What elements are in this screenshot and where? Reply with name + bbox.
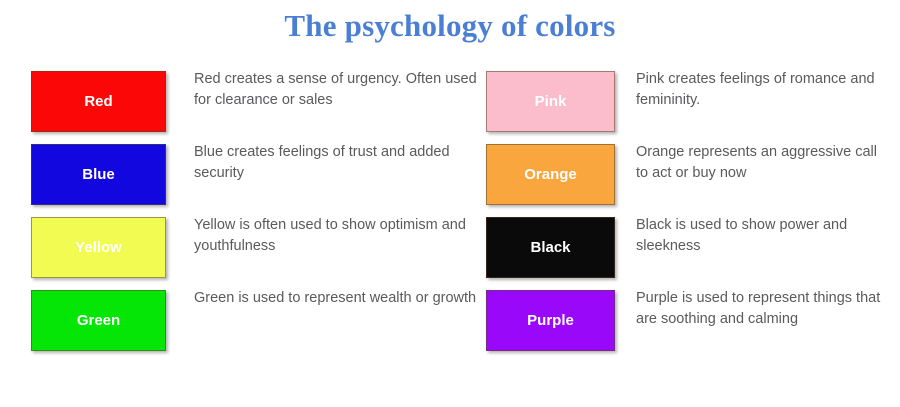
- color-row: Green Green is used to represent wealth …: [31, 290, 480, 351]
- color-row: Pink Pink creates feelings of romance an…: [486, 71, 890, 132]
- color-description: Blue creates feelings of trust and added…: [194, 142, 480, 184]
- color-swatch-label: Yellow: [75, 240, 122, 255]
- color-swatch-label: Orange: [524, 167, 577, 182]
- color-row: Orange Orange represents an aggressive c…: [486, 144, 890, 205]
- slide-canvas: The psychology of colors Red Red creates…: [0, 0, 900, 407]
- color-swatch-label: Blue: [82, 167, 115, 182]
- color-description: Black is used to show power and sleeknes…: [636, 215, 890, 257]
- page-title: The psychology of colors: [0, 8, 900, 44]
- color-swatch-label: Green: [77, 313, 120, 328]
- color-swatch-purple[interactable]: Purple: [486, 290, 615, 351]
- color-swatch-label: Pink: [535, 94, 567, 109]
- color-description: Yellow is often used to show optimism an…: [194, 215, 480, 257]
- color-description: Pink creates feelings of romance and fem…: [636, 69, 890, 111]
- color-description: Orange represents an aggressive call to …: [636, 142, 890, 184]
- color-swatch-label: Purple: [527, 313, 574, 328]
- color-swatch-orange[interactable]: Orange: [486, 144, 615, 205]
- color-row: Red Red creates a sense of urgency. Ofte…: [31, 71, 480, 132]
- color-swatch-label: Red: [84, 94, 112, 109]
- color-swatch-green[interactable]: Green: [31, 290, 166, 351]
- color-row: Blue Blue creates feelings of trust and …: [31, 144, 480, 205]
- color-swatch-blue[interactable]: Blue: [31, 144, 166, 205]
- color-description: Red creates a sense of urgency. Often us…: [194, 69, 480, 111]
- color-swatch-label: Black: [530, 240, 570, 255]
- color-swatch-red[interactable]: Red: [31, 71, 166, 132]
- color-swatch-black[interactable]: Black: [486, 217, 615, 278]
- color-swatch-yellow[interactable]: Yellow: [31, 217, 166, 278]
- color-description: Purple is used to represent things that …: [636, 288, 890, 330]
- color-swatch-pink[interactable]: Pink: [486, 71, 615, 132]
- color-row: Yellow Yellow is often used to show opti…: [31, 217, 480, 278]
- color-description: Green is used to represent wealth or gro…: [194, 288, 480, 309]
- color-row: Black Black is used to show power and sl…: [486, 217, 890, 278]
- color-row: Purple Purple is used to represent thing…: [486, 290, 890, 351]
